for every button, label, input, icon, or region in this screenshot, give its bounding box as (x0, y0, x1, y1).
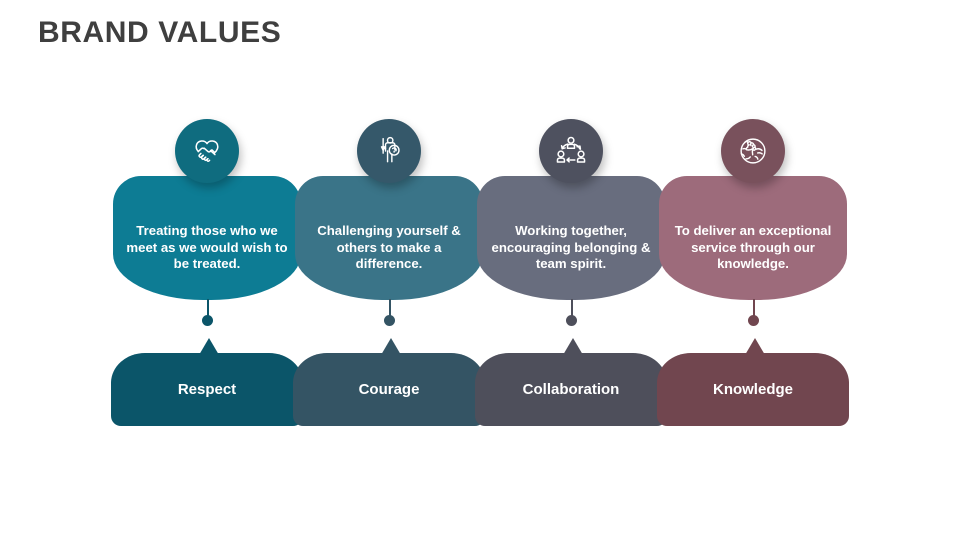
value-card-courage[interactable]: Challenging yourself & others to make a … (295, 176, 483, 300)
label-body: Collaboration (475, 353, 667, 426)
knight-sword-shield-icon (357, 119, 421, 183)
value-label-text: Courage (359, 381, 420, 398)
value-label-text: Knowledge (713, 381, 793, 398)
value-card-respect[interactable]: Treating those who we meet as we would w… (113, 176, 301, 300)
brain-globe-icon (721, 119, 785, 183)
value-description: Treating those who we meet as we would w… (113, 223, 301, 282)
value-column-courage: Challenging yourself & others to make a … (289, 0, 489, 540)
value-column-knowledge: To deliver an exceptional service throug… (653, 0, 853, 540)
value-label-collaboration[interactable]: Collaboration (475, 338, 667, 426)
value-label-text: Respect (178, 381, 236, 398)
label-body: Knowledge (657, 353, 849, 426)
handshake-heart-icon (175, 119, 239, 183)
slide-canvas: BRAND VALUES Treating those who we meet … (0, 0, 960, 540)
value-label-respect[interactable]: Respect (111, 338, 303, 426)
value-card-knowledge[interactable]: To deliver an exceptional service throug… (659, 176, 847, 300)
team-collaboration-icon (539, 119, 603, 183)
label-body: Respect (111, 353, 303, 426)
value-label-text: Collaboration (523, 381, 620, 398)
value-description: To deliver an exceptional service throug… (659, 223, 847, 282)
connector-dot (566, 315, 577, 326)
label-body: Courage (293, 353, 485, 426)
value-label-knowledge[interactable]: Knowledge (657, 338, 849, 426)
connector-dot (202, 315, 213, 326)
value-description: Working together, encouraging belonging … (477, 223, 665, 282)
connector-dot (748, 315, 759, 326)
value-card-collaboration[interactable]: Working together, encouraging belonging … (477, 176, 665, 300)
connector-dot (384, 315, 395, 326)
value-column-respect: Treating those who we meet as we would w… (107, 0, 307, 540)
value-label-courage[interactable]: Courage (293, 338, 485, 426)
value-description: Challenging yourself & others to make a … (295, 223, 483, 282)
value-column-collaboration: Working together, encouraging belonging … (471, 0, 671, 540)
